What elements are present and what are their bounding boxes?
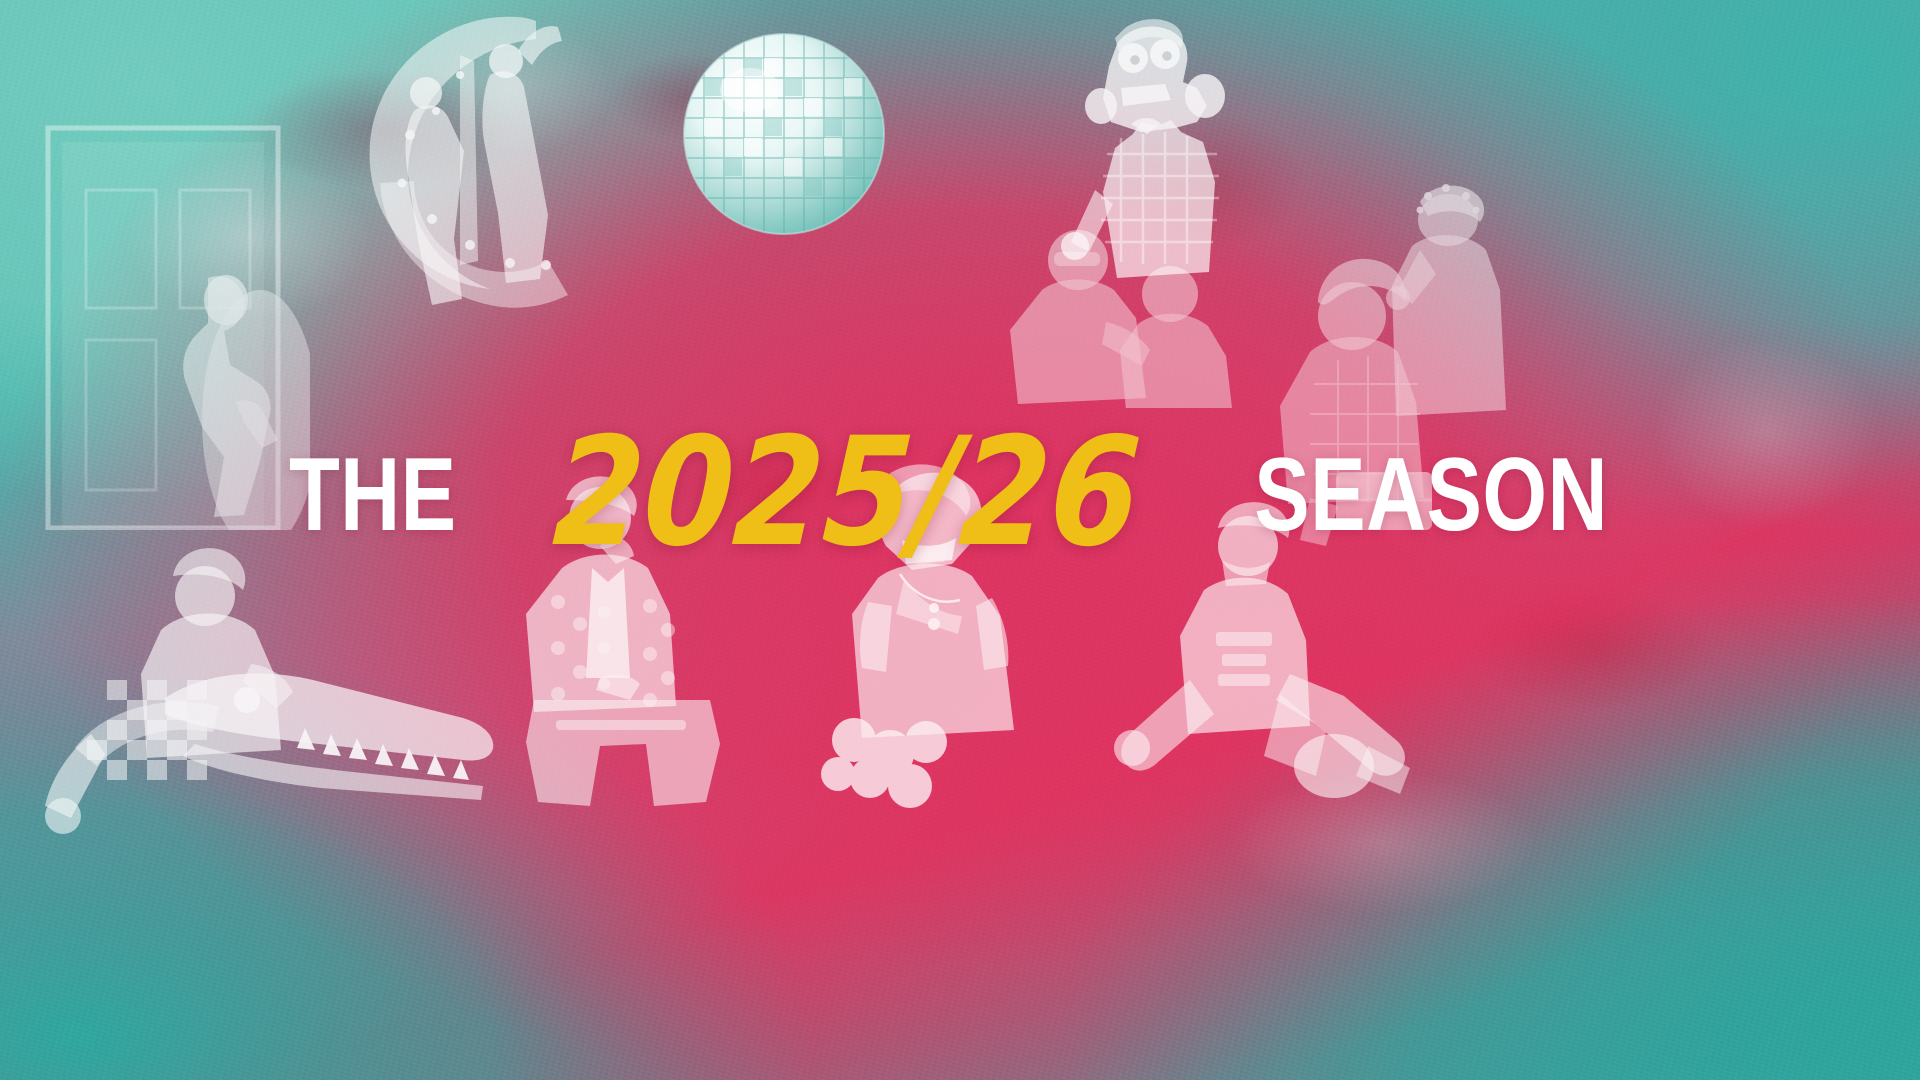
figure-embrace-pair <box>1010 218 1260 408</box>
figure-reclining-man <box>1082 498 1432 823</box>
figure-laughing-bride <box>808 462 1058 822</box>
season-announcement-banner: THE 2025/26 SEASON <box>0 0 1920 1080</box>
figure-doorway-figure <box>30 120 310 530</box>
figure-alligator <box>15 548 505 838</box>
figure-seated-man <box>500 472 750 807</box>
figure-crescent-moon <box>340 15 620 335</box>
figure-disco-ball <box>676 26 892 242</box>
